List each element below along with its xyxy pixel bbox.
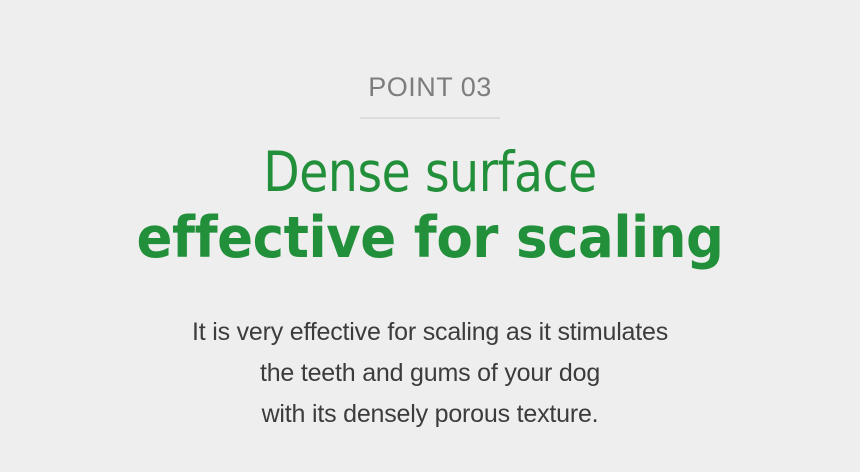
headline-line-1: Dense surface bbox=[60, 141, 800, 203]
promo-slide: POINT 03 Dense surface effective for sca… bbox=[0, 0, 860, 472]
body-copy: It is very effective for scaling as it s… bbox=[0, 312, 860, 435]
body-line: with its densely porous texture. bbox=[0, 394, 860, 435]
eyebrow-divider bbox=[360, 117, 500, 119]
headline-line-2: effective for scaling bbox=[30, 205, 830, 271]
body-line: It is very effective for scaling as it s… bbox=[0, 312, 860, 353]
body-line: the teeth and gums of your dog bbox=[0, 353, 860, 394]
eyebrow-block: POINT 03 bbox=[0, 74, 860, 119]
point-label: POINT 03 bbox=[368, 74, 492, 101]
headline: Dense surface effective for scaling bbox=[0, 141, 860, 271]
